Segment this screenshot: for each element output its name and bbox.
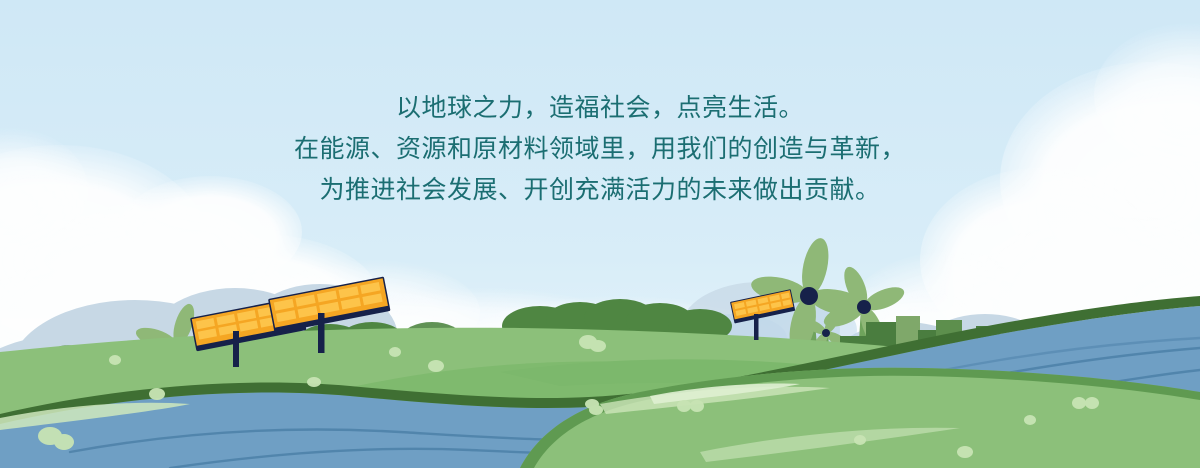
eco-banner: 以地球之力，造福社会，点亮生活。 在能源、资源和原材料领域里，用我们的创造与革新… — [0, 0, 1200, 468]
solar-panel-left-post — [233, 331, 239, 367]
turbine-hub — [800, 287, 818, 305]
landscape-illustration — [0, 0, 1200, 468]
turbine-hub — [857, 300, 871, 314]
turbine-hub — [822, 329, 830, 337]
solar-panel-right-post — [754, 314, 759, 340]
solar-panel-center-post — [318, 313, 325, 353]
